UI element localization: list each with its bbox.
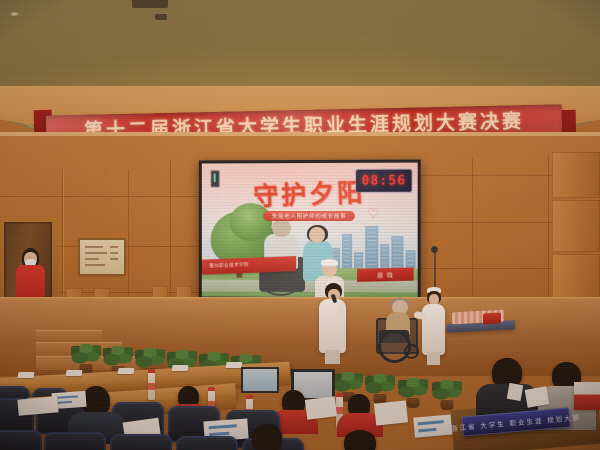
prop-red-cloth bbox=[483, 313, 501, 325]
microphone-icon bbox=[431, 246, 438, 253]
ceiling-vent bbox=[155, 14, 167, 20]
wall-panel-right bbox=[552, 200, 600, 252]
wall-panel-seam bbox=[170, 160, 171, 300]
wheelchair-small-wheel bbox=[404, 344, 419, 359]
caregiver-legs bbox=[427, 352, 440, 365]
desk-nameplate bbox=[225, 362, 242, 368]
countdown-timer: 08:56 bbox=[356, 169, 411, 191]
desk-nameplate bbox=[171, 365, 188, 371]
screen-subtitle: 失能老人照护师的成长故事 bbox=[263, 211, 355, 221]
heart-icon: ♡ bbox=[367, 207, 380, 220]
red-storage-box bbox=[574, 382, 600, 410]
wall-panel-right bbox=[552, 152, 600, 198]
wall-panel-seam bbox=[128, 170, 129, 300]
auditorium-photo: 第十二届浙江省大学生职业生涯规划大赛决赛 bbox=[0, 0, 600, 450]
audience-head bbox=[344, 430, 376, 450]
water-bottle-cap bbox=[148, 369, 155, 373]
audience-head bbox=[252, 424, 282, 450]
wall-panel-seam bbox=[0, 196, 198, 197]
countdown-timer-value: 08:56 bbox=[362, 173, 407, 188]
wall-panel-highlight bbox=[63, 170, 64, 300]
water-bottle-label bbox=[148, 383, 155, 390]
audience-chair[interactable] bbox=[44, 432, 106, 450]
screen-ribbon-right-text: 展 微 bbox=[377, 270, 394, 279]
water-bottle-cap bbox=[246, 395, 253, 399]
desk-nameplate bbox=[17, 372, 34, 378]
screen-caregiver2-cap bbox=[321, 259, 338, 266]
screen-elderly-head bbox=[272, 219, 290, 236]
speaker-legs bbox=[325, 350, 340, 364]
audience-chair[interactable] bbox=[110, 434, 172, 450]
wall-panel-seam bbox=[548, 155, 549, 305]
laptop-screen bbox=[243, 369, 277, 391]
water-bottle-label bbox=[336, 407, 343, 414]
screen-wheelchair-wheel bbox=[262, 270, 300, 296]
screen-logo-mark-icon bbox=[210, 170, 219, 187]
potted-plant bbox=[70, 340, 102, 374]
notice-board bbox=[80, 240, 124, 274]
printed-paper bbox=[305, 396, 337, 420]
screen-ribbon-left-text: 衢州职业技术学院 bbox=[209, 262, 249, 269]
judge-document bbox=[525, 386, 550, 408]
judge-shirt-collar bbox=[507, 383, 524, 401]
screen-ribbon-right: 展 微 bbox=[357, 267, 414, 282]
ceiling-downlight bbox=[10, 12, 19, 16]
led-screen: 衢州职业技术学院 展 微 守护夕阳 ♡ 失能老人照护师的成长故事 08:56 bbox=[202, 163, 418, 298]
desk-nameplate bbox=[117, 368, 134, 374]
printed-paper bbox=[374, 400, 408, 425]
document-box bbox=[413, 414, 455, 437]
ceiling-vent bbox=[132, 0, 168, 8]
water-bottle-cap bbox=[208, 387, 215, 391]
audience-chair[interactable] bbox=[0, 430, 42, 450]
audience-chair[interactable] bbox=[176, 436, 238, 450]
caregiver-white-coat bbox=[422, 304, 445, 355]
screen-title: 守护夕阳 bbox=[253, 173, 366, 213]
led-screen-frame: 衢州职业技术学院 展 微 守护夕阳 ♡ 失能老人照护师的成长故事 08:56 bbox=[199, 159, 421, 300]
potted-plant bbox=[430, 374, 464, 410]
water-bottle-cap bbox=[336, 393, 343, 397]
potted-plant bbox=[364, 370, 396, 404]
wall-panel-seam bbox=[472, 158, 473, 303]
desk-nameplate bbox=[65, 370, 82, 376]
